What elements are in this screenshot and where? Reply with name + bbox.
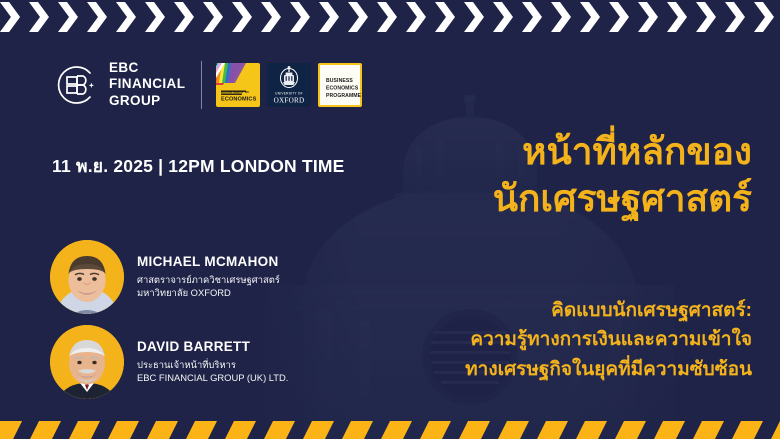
partner-logos: DEPARTMENT OF ECONOMICS xyxy=(216,63,362,107)
speaker-text: MICHAEL MCMAHON ศาสตราจารย์ภาควิชาเศรษฐศ… xyxy=(137,254,280,300)
svg-text:ECONOMICS: ECONOMICS xyxy=(326,85,359,91)
partner-logo-university-of-oxford: UNIVERSITY OF OXFORD xyxy=(267,63,311,107)
chevron-pattern-top xyxy=(0,0,780,34)
speaker-name: MICHAEL MCMAHON xyxy=(137,254,280,271)
speaker-role-line-1: ศาสตราจารย์ภาควิชาเศรษฐศาสตร์ xyxy=(137,273,280,286)
speaker-role-line-2: EBC FINANCIAL GROUP (UK) LTD. xyxy=(137,371,288,384)
subtitle-line-1: คิดแบบนักเศรษฐศาสตร์: xyxy=(322,296,752,325)
svg-text:ECONOMICS: ECONOMICS xyxy=(221,96,257,102)
partner-logo-business-economics-programme: BUSINESS ECONOMICS PROGRAMME xyxy=(318,63,362,107)
speaker-role: ประธานเจ้าหน้าที่บริหาร EBC FINANCIAL GR… xyxy=(137,358,288,385)
page-title: หน้าที่หลักของ นักเศรษฐศาสตร์ xyxy=(332,128,752,223)
page-subtitle: คิดแบบนักเศรษฐศาสตร์: ความรู้ทางการเงินแ… xyxy=(322,296,752,384)
speaker-role: ศาสตราจารย์ภาควิชาเศรษฐศาสตร์ มหาวิทยาลั… xyxy=(137,273,280,300)
avatar-david-barrett xyxy=(50,325,124,399)
webinar-banner: EBC FINANCIAL GROUP xyxy=(0,0,780,439)
speaker-name: DAVID BARRETT xyxy=(137,339,288,356)
avatar-michael-mcmahon xyxy=(50,240,124,314)
speaker-role-line-2: มหาวิทยาลัย OXFORD xyxy=(137,286,280,299)
event-date-time: 11 พ.ย. 2025 | 12PM LONDON TIME xyxy=(52,152,345,180)
subtitle-line-3: ทางเศรษฐกิจในยุคที่มีความซับซ้อน xyxy=(322,355,752,384)
subtitle-line-2: ความรู้ทางการเงินและความเข้าใจ xyxy=(322,325,752,354)
speaker-list: MICHAEL MCMAHON ศาสตราจารย์ภาควิชาเศรษฐศ… xyxy=(50,238,288,401)
speaker-item: DAVID BARRETT ประธานเจ้าหน้าที่บริหาร EB… xyxy=(50,323,288,401)
speaker-text: DAVID BARRETT ประธานเจ้าหน้าที่บริหาร EB… xyxy=(137,339,288,385)
speaker-role-line-1: ประธานเจ้าหน้าที่บริหาร xyxy=(137,358,288,371)
speaker-item: MICHAEL MCMAHON ศาสตราจารย์ภาควิชาเศรษฐศ… xyxy=(50,238,288,316)
title-line-1: หน้าที่หลักของ xyxy=(332,128,752,175)
logo-divider xyxy=(201,61,202,109)
partner-logo-department-of-economics: DEPARTMENT OF ECONOMICS xyxy=(216,63,260,107)
ebc-wordmark: EBC FINANCIAL GROUP xyxy=(109,60,185,109)
svg-text:BUSINESS: BUSINESS xyxy=(326,78,353,84)
svg-text:OXFORD: OXFORD xyxy=(274,96,305,104)
svg-text:UNIVERSITY OF: UNIVERSITY OF xyxy=(276,91,304,95)
title-line-2: นักเศรษฐศาสตร์ xyxy=(332,175,752,222)
logo-row: EBC FINANCIAL GROUP xyxy=(52,60,362,109)
ebc-logo-mark xyxy=(52,61,100,109)
svg-text:PROGRAMME: PROGRAMME xyxy=(326,93,362,99)
svg-text:DEPARTMENT OF: DEPARTMENT OF xyxy=(221,90,249,94)
diagonal-stripe-pattern-bottom xyxy=(0,417,780,439)
